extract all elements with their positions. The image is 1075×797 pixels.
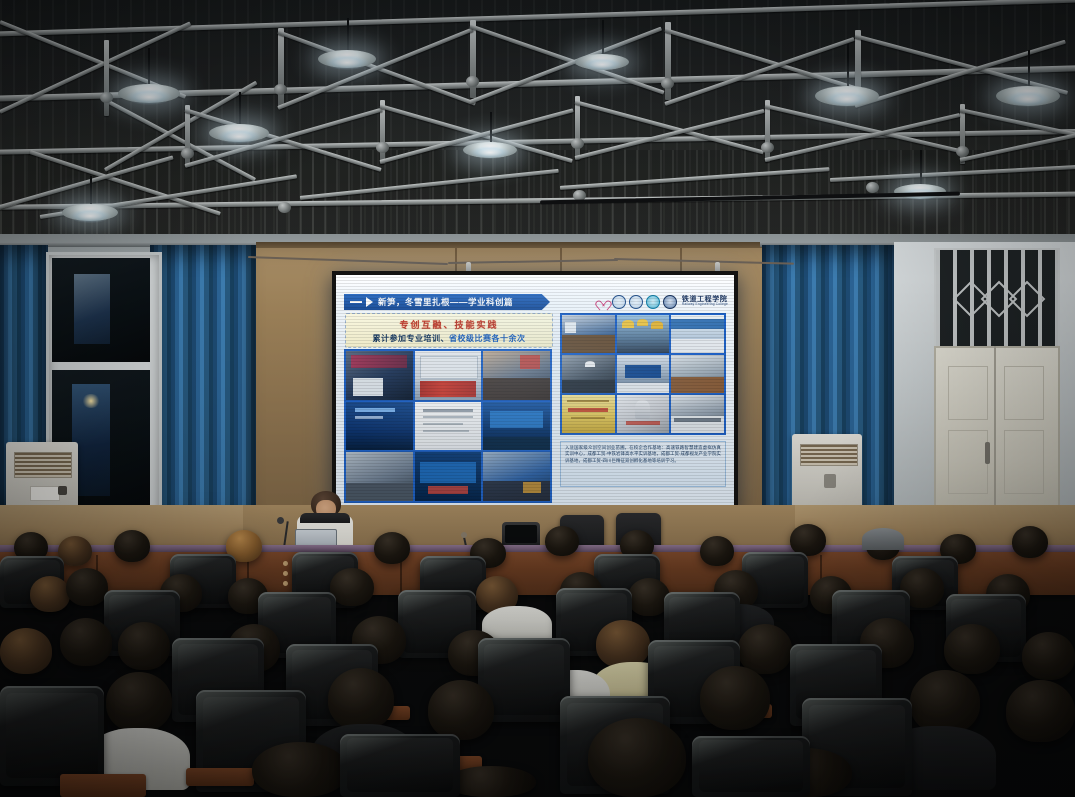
photo-site-visit: [562, 355, 615, 393]
institution-name-en: Railway Engineering College: [682, 303, 728, 306]
photo-stage-ceremony: [483, 402, 550, 451]
slide-title-bar: 新笋，冬雪里扎根——学业科创篇: [344, 294, 550, 310]
audience-head: [0, 628, 52, 674]
photo-lab-group: [671, 395, 724, 433]
chevron-right-icon: [366, 297, 373, 307]
emblem-logo-4-icon: [663, 295, 677, 309]
institution-logo-text: 铁道工程学院 Railway Engineering College: [682, 296, 728, 306]
photo-workshop-hands: [483, 351, 550, 400]
auditorium-seat[interactable]: [340, 734, 460, 797]
audience-head: [545, 526, 579, 556]
photo-blue-poster: [346, 402, 413, 451]
photo-grid-right: [560, 313, 726, 435]
audience-head: [700, 666, 770, 730]
ceiling-truss-area: [0, 0, 1075, 258]
logo-strip: 铁道工程学院 Railway Engineering College: [598, 294, 728, 309]
auditorium-seat[interactable]: [692, 736, 810, 797]
curtain-left-main: [150, 245, 256, 537]
photo-classroom-work: [671, 355, 724, 393]
photo-students-desks: [483, 452, 550, 501]
photo-document-sheet: [415, 402, 482, 451]
audience-seating: [0, 520, 1075, 797]
slide-content: 新笋，冬雪里扎根——学业科创篇 铁道工程学院 Railway Engineeri…: [336, 275, 734, 509]
audience-cap: [862, 528, 904, 550]
highlight-headline: 专创互融、技能实践: [399, 318, 498, 331]
photo-students-white: [671, 315, 724, 353]
audience-head: [588, 718, 686, 797]
audience-head: [428, 680, 494, 740]
emblem-logo-2-icon: [629, 295, 643, 309]
door-handle[interactable]: [985, 442, 990, 464]
audience-head: [252, 742, 348, 797]
slide-body-text: 入驻国家级众创空间创业苗圃，在校企合作基地：高速铁路智慧建造虚拟仿真实训中心，成…: [565, 445, 721, 464]
photo-helmets-yellow: [617, 315, 670, 353]
audience-head: [114, 530, 150, 562]
audience-head: [910, 670, 980, 734]
photo-grid-left: [344, 349, 552, 503]
audience-head: [330, 568, 374, 606]
audience-head: [596, 620, 650, 668]
photo-classroom-lecture: [346, 351, 413, 400]
emblem-logo-1-icon: [612, 295, 626, 309]
audience-head: [60, 618, 112, 666]
slide-title: 新笋，冬雪里扎根——学业科创篇: [378, 296, 513, 308]
highlight-subline: 累计参加专业培训、省校级比赛各十余次: [373, 333, 526, 344]
photo-control-room: [562, 315, 615, 353]
led-presentation-screen: 新笋，冬雪里扎根——学业科创篇 铁道工程学院 Railway Engineeri…: [332, 271, 738, 513]
auditorium-photo: 新笋，冬雪里扎根——学业科创篇 铁道工程学院 Railway Engineeri…: [0, 0, 1075, 797]
highlight-callout-box: 专创互融、技能实践 累计参加专业培训、省校级比赛各十余次: [345, 313, 553, 348]
highlight-subline-accent: 省校级比赛各十余次: [449, 334, 526, 343]
audience-head: [106, 672, 172, 732]
photo-yellow-plaque: [562, 395, 615, 433]
audience-head: [118, 622, 170, 670]
audience-head: [700, 536, 734, 566]
audience-head: [374, 532, 410, 564]
auditorium-seat[interactable]: [0, 686, 104, 786]
photo-screen-display: [415, 452, 482, 501]
audience-head: [738, 624, 792, 674]
seat-armrest: [60, 774, 146, 797]
emblem-logo-3-icon: [646, 295, 660, 309]
seat-armrest: [186, 768, 254, 786]
photo-award-group: [415, 351, 482, 400]
audience-head: [328, 668, 394, 730]
highlight-subline-plain: 累计参加专业培训、: [373, 334, 450, 343]
audience-head: [1012, 526, 1048, 558]
audience-head: [1006, 680, 1075, 742]
audience-head: [944, 624, 1000, 674]
photo-auditorium-stage: [617, 355, 670, 393]
audience-head: [1022, 632, 1075, 680]
audience-head: [66, 568, 108, 606]
photo-lab-interior: [346, 452, 413, 501]
section-dash-icon: [350, 301, 362, 303]
heart-logo-icon: [598, 296, 609, 307]
slide-body-textbox: 入驻国家级众创空间创业苗圃，在校企合作基地：高速铁路智慧建造虚拟仿真实训中心，成…: [560, 441, 726, 487]
photo-trophy-silver: [617, 395, 670, 433]
audience-head: [30, 576, 70, 612]
